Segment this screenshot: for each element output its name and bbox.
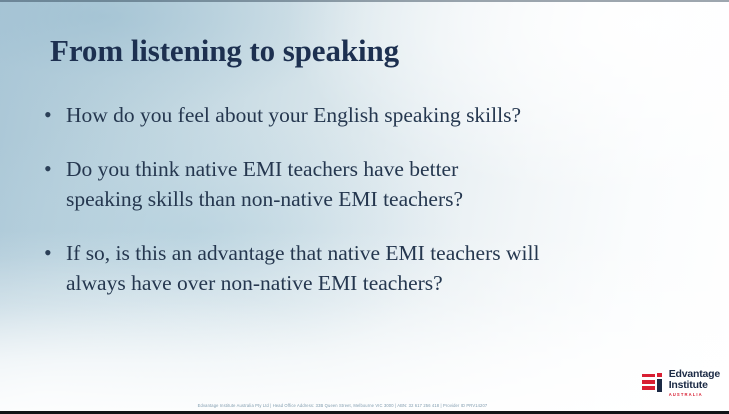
list-item: • If so, is this an advantage that nativ… — [40, 238, 680, 298]
footer-strip: Edvantage Institute Australia Pty Ltd | … — [0, 395, 729, 411]
logo-line-edvantage: Edvantage — [669, 369, 720, 380]
slide-title: From listening to speaking — [50, 33, 399, 69]
list-item: • Do you think native EMI teachers have … — [40, 154, 680, 214]
list-item: • How do you feel about your English spe… — [40, 100, 680, 130]
logo-line-australia: AUSTRALIA — [669, 393, 720, 397]
bullet-dot-icon: • — [40, 100, 66, 130]
footer-legal-text: Edvantage Institute Australia Pty Ltd | … — [0, 403, 707, 408]
logo-line-institute: Institute — [669, 380, 720, 391]
bullet-dot-icon: • — [40, 238, 66, 268]
bullet-text: Do you think native EMI teachers have be… — [66, 154, 680, 214]
logo-bars-icon — [642, 374, 655, 390]
bullet-list: • How do you feel about your English spe… — [40, 100, 680, 298]
logo-wordmark: Edvantage Institute AUSTRALIA — [669, 369, 720, 397]
slide-top-border — [0, 0, 729, 2]
bullet-text: How do you feel about your English speak… — [66, 100, 680, 130]
edvantage-institute-logo: Edvantage Institute AUSTRALIA — [642, 369, 720, 397]
logo-pin-icon — [657, 373, 662, 392]
bullet-text: If so, is this an advantage that native … — [66, 238, 680, 298]
logo-mark-icon — [642, 373, 664, 393]
bullet-dot-icon: • — [40, 154, 66, 184]
presentation-slide: From listening to speaking • How do you … — [0, 0, 729, 414]
